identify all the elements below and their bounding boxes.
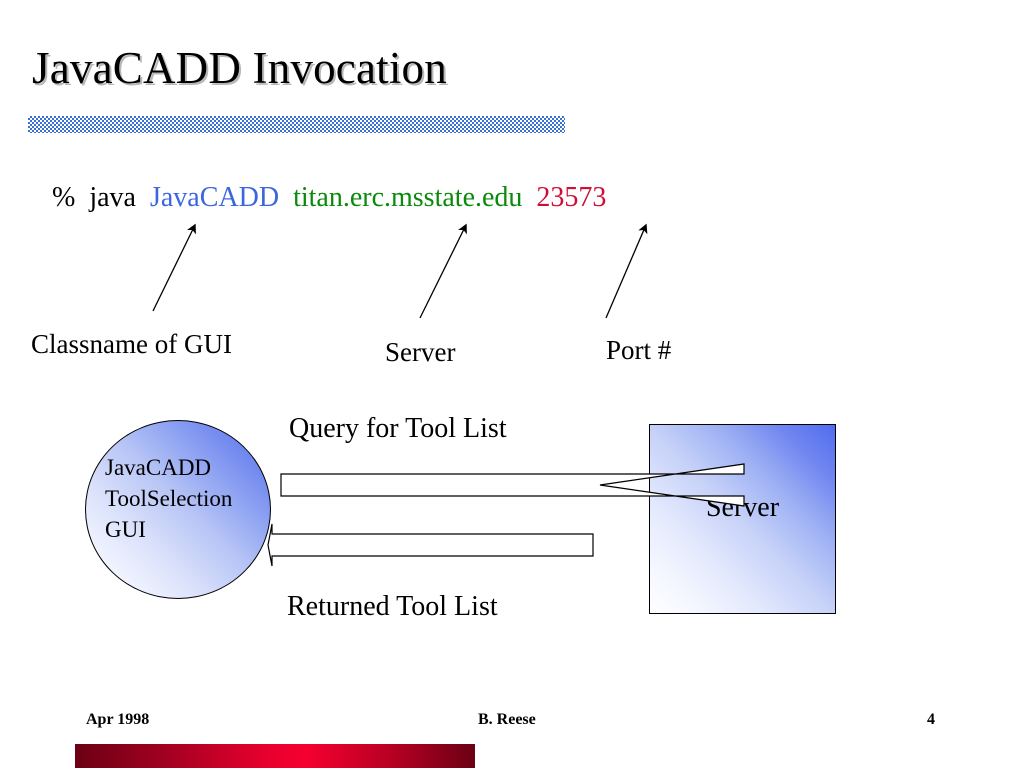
pointer-arrow-port [606, 225, 646, 318]
flow-label-returned: Returned Tool List [287, 590, 498, 624]
callout-label-server: Server [385, 336, 455, 368]
callout-label-classname: Classname of GUI [31, 328, 232, 360]
pointer-arrow-server [420, 225, 466, 318]
footer-author: B. Reese [478, 710, 536, 730]
client-gui-label-line3: GUI [105, 514, 232, 545]
block-arrow-returned-left [268, 524, 593, 566]
footer-page-number: 4 [927, 710, 935, 730]
client-gui-label-line1: JavaCADD [105, 452, 232, 483]
footer-accent-bar [75, 744, 475, 768]
command-java-keyword: java [89, 182, 136, 213]
command-prompt-symbol: % [52, 182, 75, 213]
client-gui-label: JavaCADD ToolSelection GUI [105, 452, 232, 545]
command-port-token: 23573 [536, 182, 606, 213]
callout-label-port: Port # [606, 334, 671, 366]
page-title: JavaCADD Invocation [32, 40, 447, 96]
command-classname-token: JavaCADD [150, 182, 279, 213]
block-arrow-helper2 [268, 525, 593, 535]
title-underline-rule [28, 116, 565, 133]
slide-canvas: JavaCADD Invocation % java JavaCADD tita… [0, 0, 1024, 768]
flow-label-query: Query for Tool List [289, 412, 507, 446]
pointer-arrow-classname [153, 225, 195, 311]
footer-date: Apr 1998 [86, 710, 149, 730]
server-box: Server [649, 424, 836, 614]
client-gui-circle: JavaCADD ToolSelection GUI [85, 420, 271, 599]
block-arrow-helper [269, 526, 593, 536]
server-box-label: Server [650, 491, 835, 525]
client-gui-label-line2: ToolSelection [105, 483, 232, 514]
command-line: % java JavaCADD titan.erc.msstate.edu 23… [52, 180, 606, 216]
command-host-token: titan.erc.msstate.edu [293, 182, 522, 213]
